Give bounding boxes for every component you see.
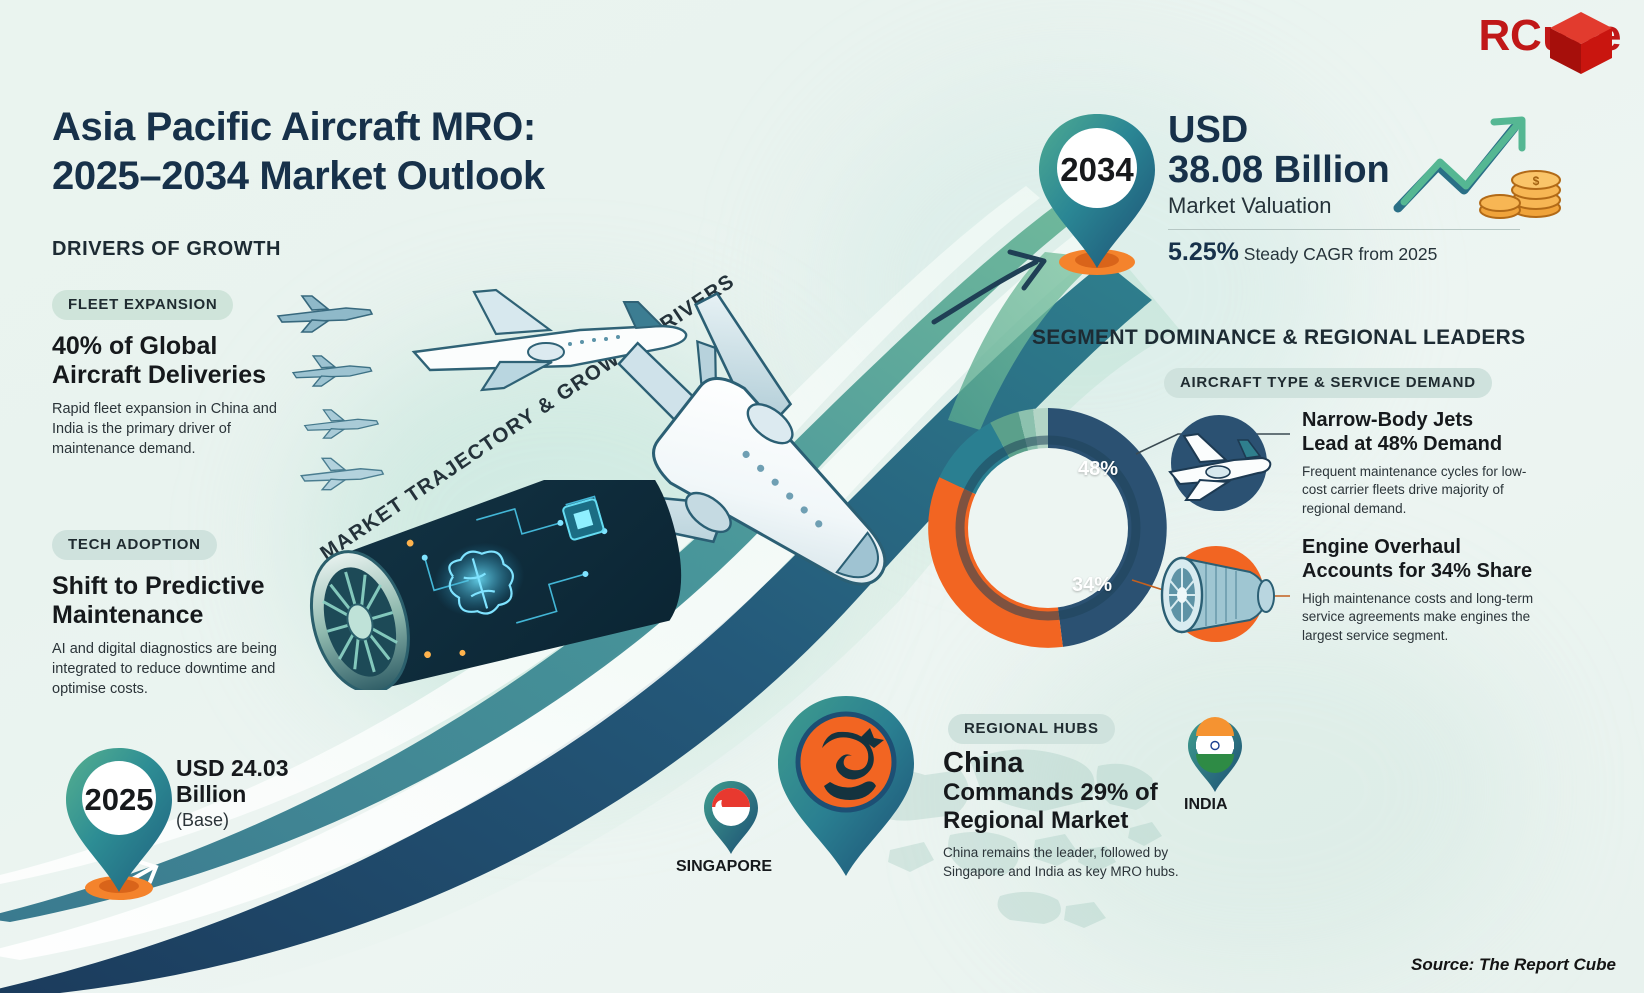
narrowbody-title-line-1: Narrow-Body Jets xyxy=(1302,408,1542,432)
title-line-2: 2025–2034 Market Outlook xyxy=(52,152,752,201)
growth-arrow-coins-icon: $ xyxy=(1390,112,1570,232)
regional-leader-block: China Commands 29% of Regional Market Ch… xyxy=(943,748,1195,881)
airplane-small-icon xyxy=(288,350,380,392)
donut-label-34: 34% xyxy=(1072,574,1112,597)
brand-logo[interactable]: ЯCube xyxy=(1478,14,1622,58)
narrowbody-jet-icon xyxy=(1154,408,1284,518)
driver-block-tech-adoption: TECH ADOPTION Shift to Predictive Mainte… xyxy=(52,530,277,699)
fleet-title: 40% of Global Aircraft Deliveries xyxy=(52,332,277,390)
tech-title-line-2: Maintenance xyxy=(52,601,277,630)
start-value-line-1: USD 24.03 xyxy=(176,756,289,782)
jet-engine-ai-icon xyxy=(286,480,706,690)
infographic-canvas: MARKET TRAJECTORY & GROWTH DRIVERS ЯCube… xyxy=(0,0,1644,993)
title-line-1: Asia Pacific Aircraft MRO: xyxy=(52,103,752,152)
start-value-note: (Base) xyxy=(176,810,289,831)
chip-aircraft-type-service-demand: AIRCRAFT TYPE & SERVICE DEMAND xyxy=(1164,368,1492,398)
narrowbody-title: Narrow-Body Jets Lead at 48% Demand xyxy=(1302,408,1542,456)
segment-dominance-heading: SEGMENT DOMINANCE & REGIONAL LEADERS xyxy=(1032,326,1525,350)
engine-title: Engine Overhaul Accounts for 34% Share xyxy=(1302,535,1552,583)
source-credit: Source: The Report Cube xyxy=(1411,955,1616,975)
pin-2025-value: USD 24.03 Billion (Base) xyxy=(176,756,289,831)
regional-leader-name: China xyxy=(943,748,1195,779)
engine-body: High maintenance costs and long-term ser… xyxy=(1302,590,1552,645)
svg-text:2025: 2025 xyxy=(85,782,154,817)
start-value-line-2: Billion xyxy=(176,782,289,808)
cube-icon xyxy=(1542,6,1620,80)
pin-2034[interactable]: 2034 xyxy=(1028,108,1166,278)
engine-title-line-1: Engine Overhaul xyxy=(1302,535,1552,559)
singapore-flag-pin[interactable] xyxy=(700,778,762,856)
pin-2025[interactable]: 2025 xyxy=(56,742,182,902)
airplane-small-icon xyxy=(272,290,382,338)
tech-title-line-1: Shift to Predictive xyxy=(52,572,277,601)
driver-block-fleet-expansion: FLEET EXPANSION 40% of Global Aircraft D… xyxy=(52,290,277,459)
engine-title-line-2: Accounts for 34% Share xyxy=(1302,559,1552,583)
india-flag-pin[interactable] xyxy=(1184,716,1246,794)
regional-leader-share-line-1: Commands 29% of xyxy=(943,779,1195,807)
turbine-engine-icon xyxy=(1154,534,1284,652)
narrowbody-title-line-2: Lead at 48% Demand xyxy=(1302,432,1542,456)
segment-item-narrow-body: Narrow-Body Jets Lead at 48% Demand Freq… xyxy=(1302,408,1542,518)
donut-label-48: 48% xyxy=(1078,458,1118,481)
china-dragon-pin[interactable] xyxy=(768,690,924,880)
tech-title: Shift to Predictive Maintenance xyxy=(52,572,277,630)
fleet-title-line-2: Aircraft Deliveries xyxy=(52,361,277,390)
cagr-line: 5.25% Steady CAGR from 2025 xyxy=(1168,238,1538,267)
drivers-of-growth-heading: DRIVERS OF GROWTH xyxy=(52,238,281,261)
page-title: Asia Pacific Aircraft MRO: 2025–2034 Mar… xyxy=(52,103,752,201)
logo-mark-reversed-r: Я xyxy=(1478,14,1510,58)
chip-tech-adoption: TECH ADOPTION xyxy=(52,530,217,560)
regional-leader-share-line-2: Regional Market xyxy=(943,807,1195,835)
chip-regional-hubs: REGIONAL HUBS xyxy=(948,714,1115,744)
chip-fleet-expansion: FLEET EXPANSION xyxy=(52,290,233,320)
cagr-value: 5.25% xyxy=(1168,238,1239,266)
regional-leader-body: China remains the leader, followed by Si… xyxy=(943,844,1195,881)
tech-body: AI and digital diagnostics are being int… xyxy=(52,639,277,699)
cagr-text: Steady CAGR from 2025 xyxy=(1244,244,1438,264)
airplane-small-icon xyxy=(300,404,386,444)
narrowbody-body: Frequent maintenance cycles for low-cost… xyxy=(1302,463,1542,518)
singapore-label: SINGAPORE xyxy=(676,858,772,876)
svg-text:2034: 2034 xyxy=(1060,151,1134,188)
svg-text:$: $ xyxy=(1533,174,1540,188)
fleet-body: Rapid fleet expansion in China and India… xyxy=(52,399,277,459)
fleet-title-line-1: 40% of Global xyxy=(52,332,277,361)
india-label: INDIA xyxy=(1184,796,1228,814)
regional-leader-share: Commands 29% of Regional Market xyxy=(943,779,1195,835)
segment-item-engine-overhaul: Engine Overhaul Accounts for 34% Share H… xyxy=(1302,535,1552,645)
